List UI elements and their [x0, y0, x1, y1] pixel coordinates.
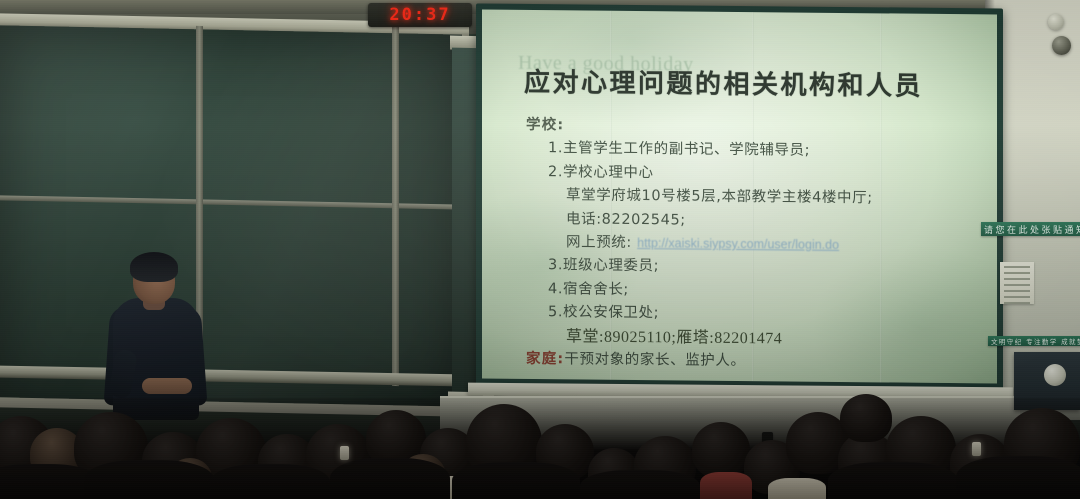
audience-head: [840, 394, 892, 442]
slide-line-label: 网上预统:: [566, 234, 632, 251]
phone-screen-icon: [340, 446, 349, 460]
phone-screen-icon: [972, 442, 981, 456]
blackboard-seam-right: [392, 26, 399, 386]
audience-head: [692, 422, 750, 478]
posting-notice-banner: 请您在此处张贴通知: [981, 222, 1080, 236]
audience-torso: [580, 470, 700, 499]
slide-body: 学校: 1.主管学生工作的副书记、学院辅导员; 2.学校心理中心 草堂学府城10…: [526, 114, 996, 376]
slogan-banner: 文明守纪 专注勤学 成就梦想: [988, 336, 1080, 346]
audience-torso: [956, 456, 1080, 499]
audience-torso: [330, 458, 450, 499]
section-label-family: 家庭:: [526, 351, 564, 367]
slide-hyperlink[interactable]: http://xaiski.siypsy.com/user/login.do: [637, 236, 839, 252]
wall-speaker-icon: [1052, 36, 1071, 55]
audience-rows: [0, 398, 1080, 499]
wall-unit-lens-icon: [1044, 364, 1066, 386]
wall-sensor-icon: [1048, 14, 1064, 30]
audience-shirt: [768, 478, 826, 499]
slide-content: Have a good holiday 应对心理问题的相关机构和人员 学校: 1…: [482, 10, 997, 384]
audience-torso: [828, 462, 958, 499]
slide-line: 干预对象的家长、监护人。: [564, 351, 745, 369]
classroom-photo: 20:37 Have a good holiday 应对心理问题的相关机构和人员…: [0, 0, 1080, 499]
clock-time-readout: 20:37: [389, 5, 450, 25]
audience-shirt: [700, 472, 752, 499]
audience-torso: [210, 464, 330, 499]
slide-title: 应对心理问题的相关机构和人员: [524, 62, 964, 103]
lecturer-hair: [130, 252, 178, 282]
digital-wall-clock: 20:37: [368, 3, 472, 27]
audience-torso: [452, 462, 580, 499]
wall-notice-paper: [1000, 262, 1034, 304]
section-family: 家庭:干预对象的家长、监护人。: [526, 348, 996, 376]
audience-torso: [84, 460, 214, 499]
lecturer-hands: [142, 378, 192, 394]
